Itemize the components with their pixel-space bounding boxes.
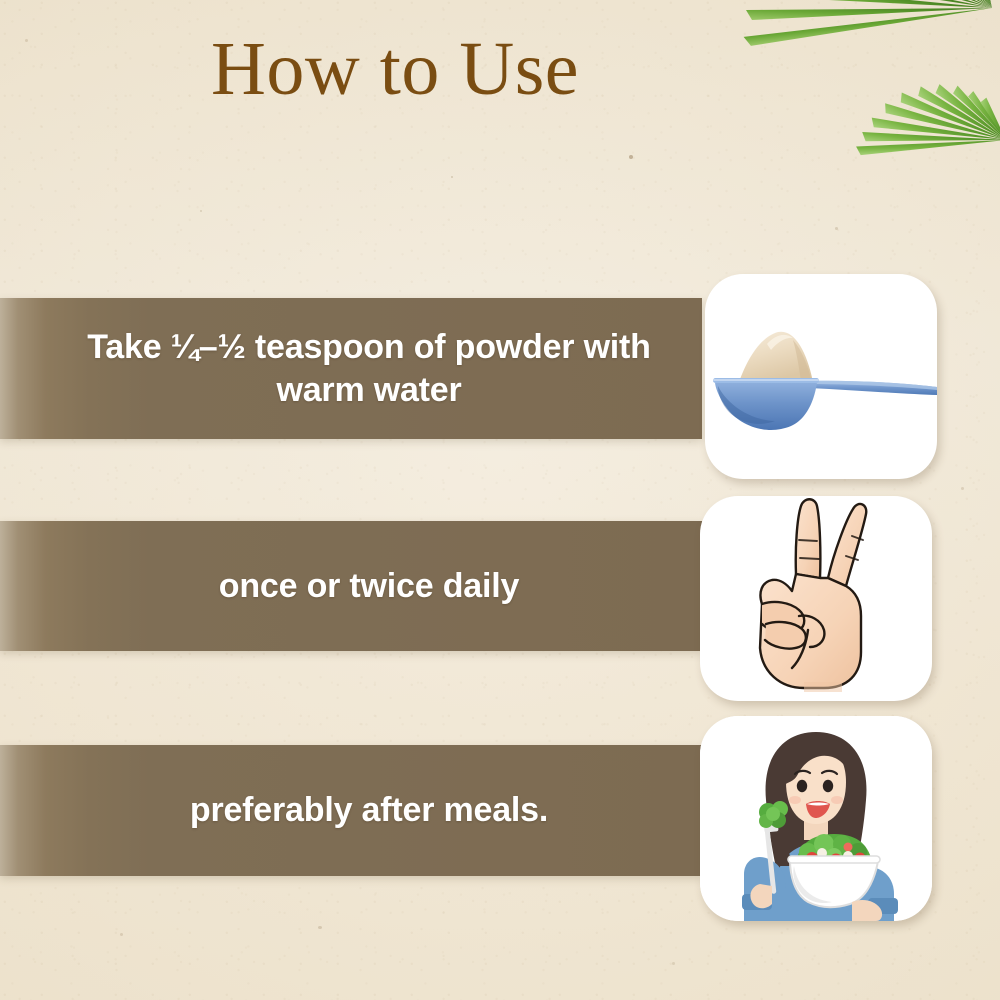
step-2-text: once or twice daily (149, 565, 553, 607)
step-1-icon-clip (705, 274, 937, 479)
step-1-icon-card (705, 274, 937, 479)
step-3-icon-card (700, 716, 932, 921)
step-band-2: once or twice daily (0, 521, 702, 651)
step-3-icon-clip (700, 716, 932, 921)
step-1-text: Take ¼–½ teaspoon of powder with warm wa… (0, 326, 702, 410)
paper-speck (961, 487, 964, 490)
step-band-1: Take ¼–½ teaspoon of powder with warm wa… (0, 298, 702, 439)
paper-speck (451, 176, 453, 178)
page-title: How to Use (0, 30, 790, 110)
step-2-icon-card (700, 496, 932, 701)
paper-speck (200, 210, 202, 212)
paper-speck (835, 227, 838, 230)
step-band-3: preferably after meals. (0, 745, 702, 876)
paper-speck (672, 962, 675, 965)
step-3-text: preferably after meals. (120, 789, 582, 831)
how-to-use-poster: How to Use Take ¼–½ teaspoon of powder w… (0, 0, 1000, 1000)
paper-speck (629, 155, 633, 159)
paper-speck (120, 933, 123, 936)
peace-sign-hand-icon (700, 496, 932, 701)
woman-eating-salad-icon (700, 716, 932, 921)
spoon-with-powder-icon (705, 274, 937, 479)
paper-speck (318, 926, 322, 929)
step-2-icon-clip (700, 496, 932, 701)
